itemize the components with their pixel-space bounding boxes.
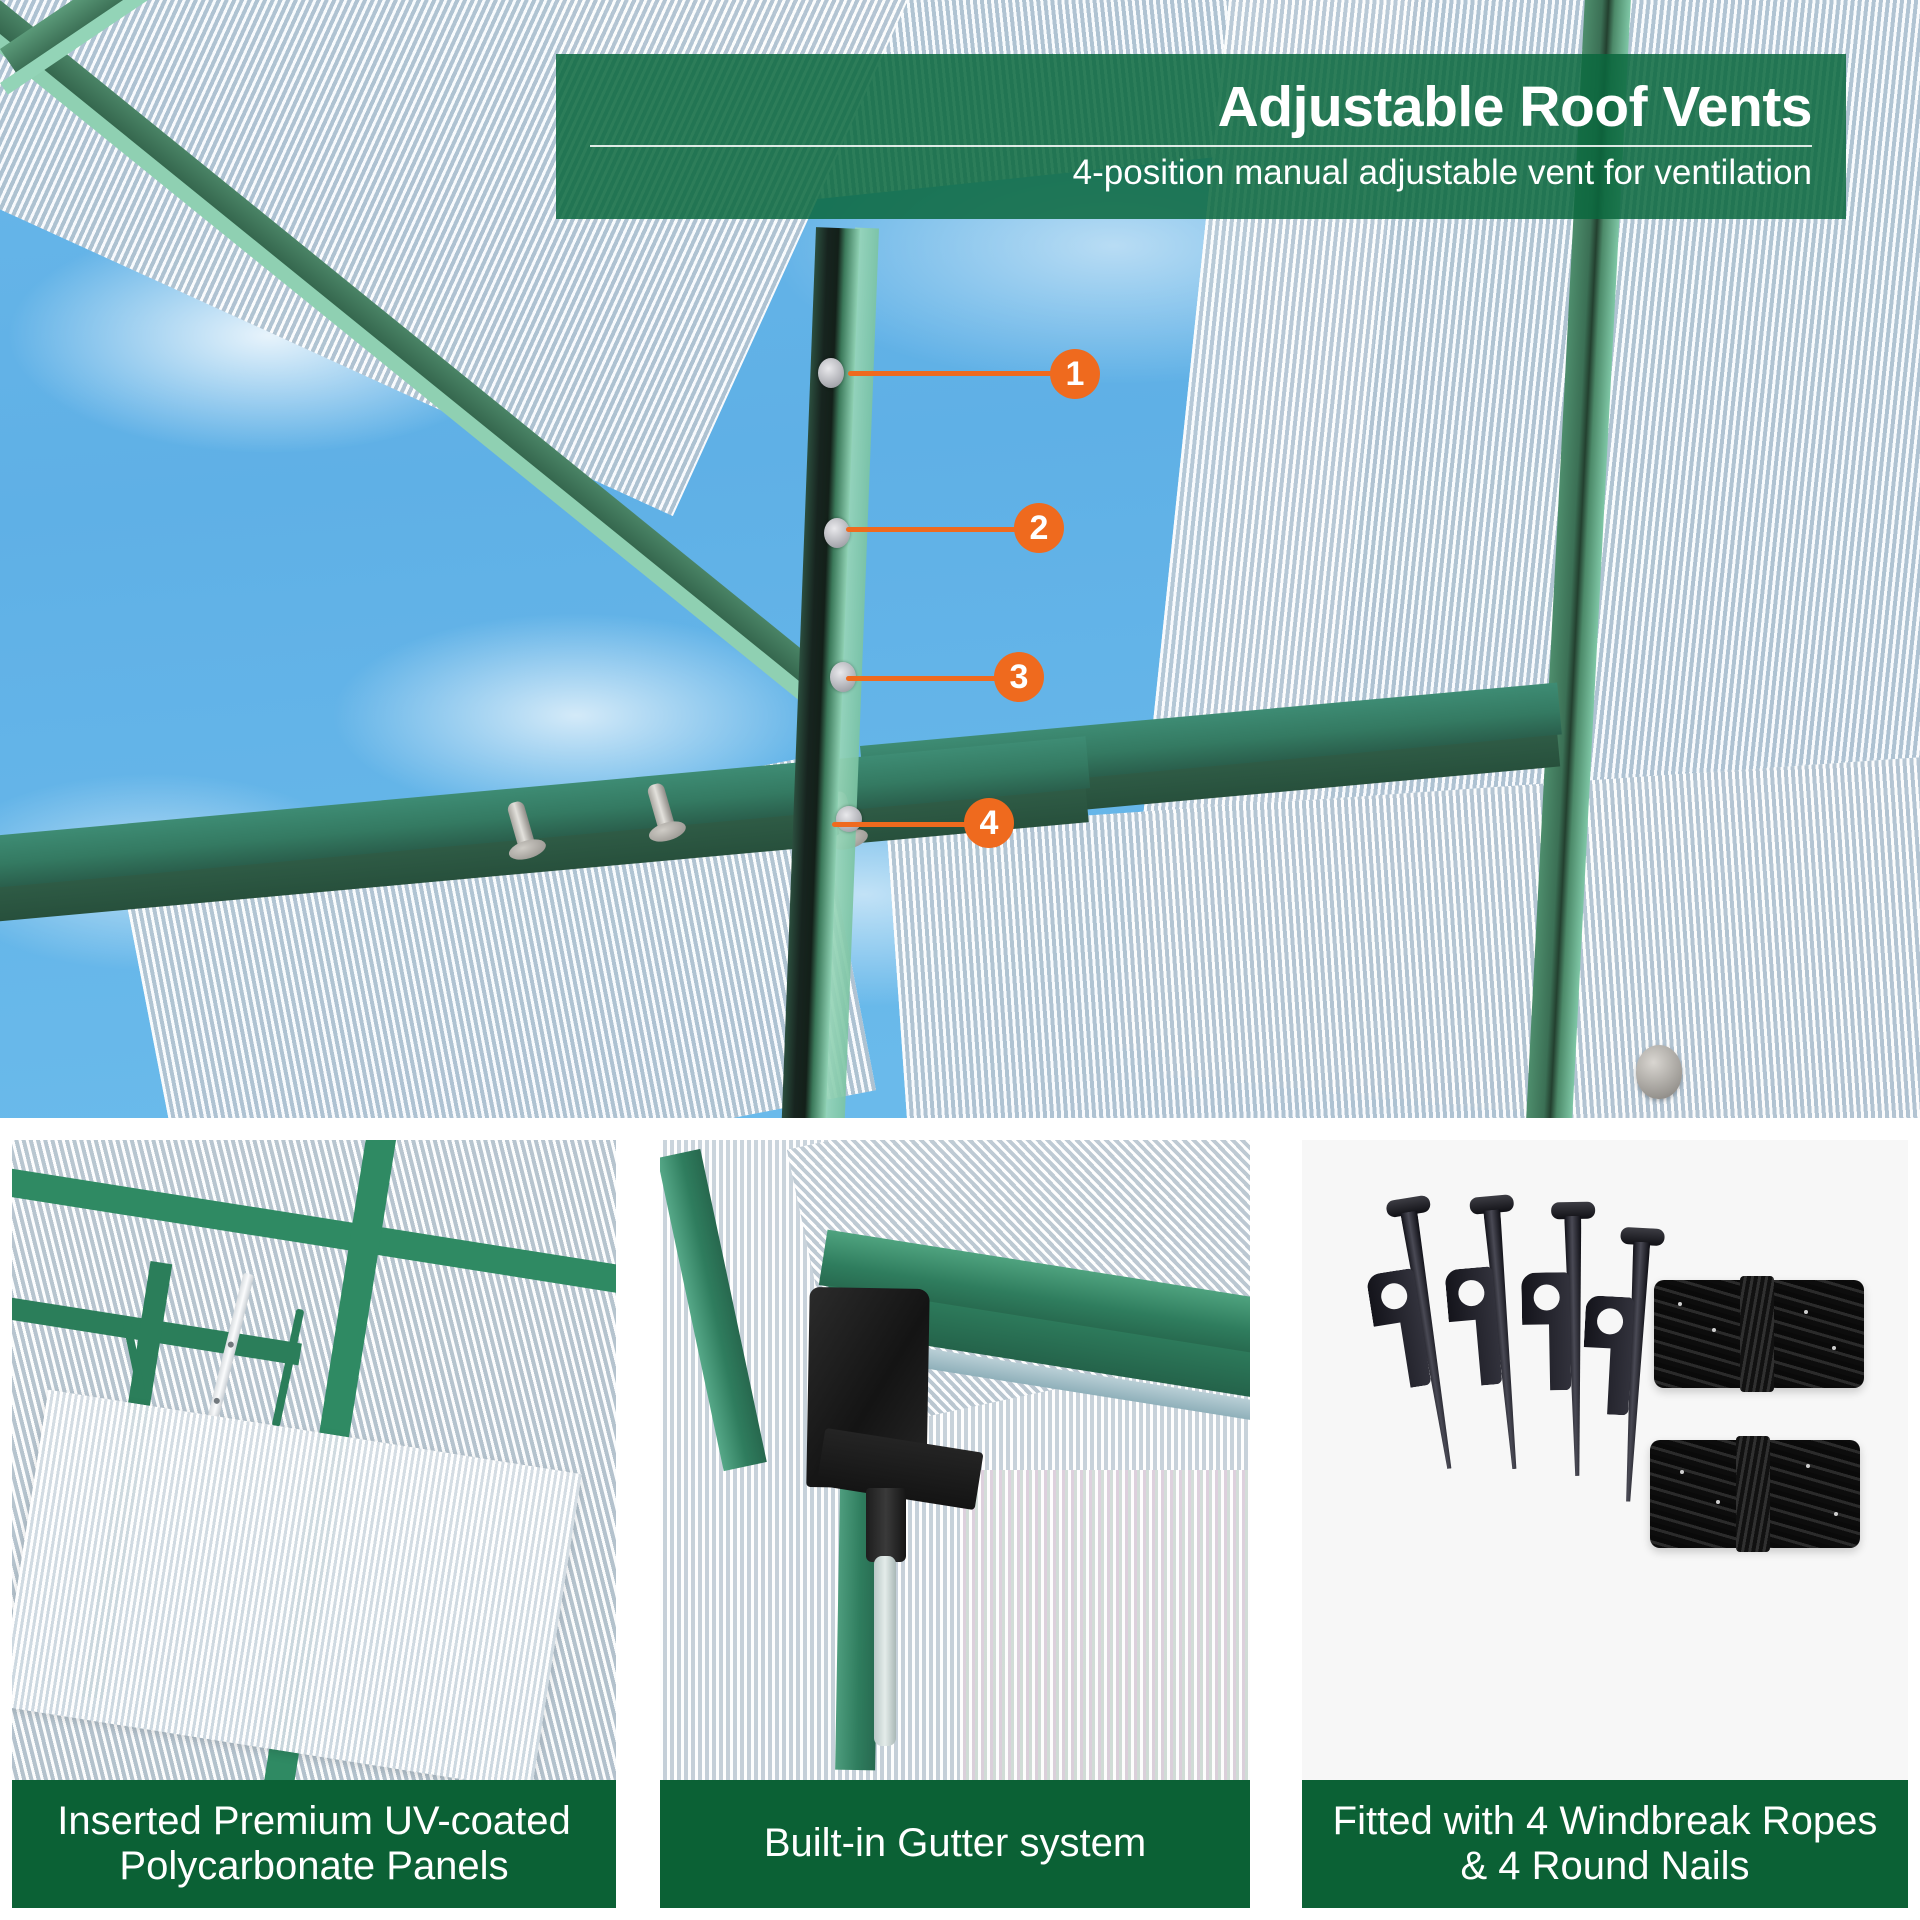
feature-tile-accessories: Fitted with 4 Windbreak Ropes& 4 Round N… xyxy=(1302,1140,1908,1920)
callout-badge-2: 2 xyxy=(1014,503,1064,553)
caption-line-1: Fitted with 4 Windbreak Ropes xyxy=(1333,1799,1878,1843)
callout-badge-4: 4 xyxy=(964,798,1014,848)
caption-text: Built-in Gutter system xyxy=(764,1821,1146,1866)
callout-badge-1: 1 xyxy=(1050,349,1100,399)
hero-subtitle: 4-position manual adjustable vent for ve… xyxy=(590,155,1812,192)
feature-tile-panels: Inserted Premium UV-coatedPolycarbonate … xyxy=(12,1140,616,1920)
feature-tiles: Inserted Premium UV-coatedPolycarbonate … xyxy=(0,1140,1920,1920)
hero-title: Adjustable Roof Vents xyxy=(590,78,1812,136)
caption-line-2: & 4 Round Nails xyxy=(1460,1844,1749,1888)
caption-text: Fitted with 4 Windbreak Ropes& 4 Round N… xyxy=(1333,1799,1878,1889)
hero-image: 1 2 3 4 Adjustable Roof Vents 4-position… xyxy=(0,0,1920,1118)
caption-line-2: Polycarbonate Panels xyxy=(119,1844,508,1888)
feature-caption-gutter: Built-in Gutter system xyxy=(660,1780,1250,1908)
hero-divider xyxy=(590,145,1812,147)
feature-photo-gutter xyxy=(660,1140,1250,1780)
callout-leader-1 xyxy=(848,371,1080,376)
feature-tile-gutter: Built-in Gutter system xyxy=(660,1140,1250,1920)
feature-photo-accessories xyxy=(1302,1140,1908,1780)
gutter-downspout xyxy=(866,1488,906,1562)
gutter-hose xyxy=(874,1556,896,1746)
callout-badge-3: 3 xyxy=(994,652,1044,702)
callout-leader-2 xyxy=(846,527,1042,532)
windbreak-rope xyxy=(1650,1440,1860,1548)
feature-caption-panels: Inserted Premium UV-coatedPolycarbonate … xyxy=(12,1780,616,1908)
caption-text: Inserted Premium UV-coatedPolycarbonate … xyxy=(57,1799,571,1889)
vent-notch-2 xyxy=(824,518,850,548)
vent-notch-4 xyxy=(836,806,862,832)
window-latch-knob xyxy=(1636,1045,1682,1099)
caption-line-1: Inserted Premium UV-coated xyxy=(57,1799,571,1843)
windbreak-rope xyxy=(1654,1280,1864,1388)
vent-notch-1 xyxy=(818,358,844,388)
ground-nail xyxy=(1630,1227,1656,1228)
feature-photo-panels xyxy=(12,1140,616,1780)
feature-caption-accessories: Fitted with 4 Windbreak Ropes& 4 Round N… xyxy=(1302,1780,1908,1908)
hero-banner: Adjustable Roof Vents 4-position manual … xyxy=(556,54,1846,219)
gutter-wall-panel xyxy=(960,1470,1250,1780)
